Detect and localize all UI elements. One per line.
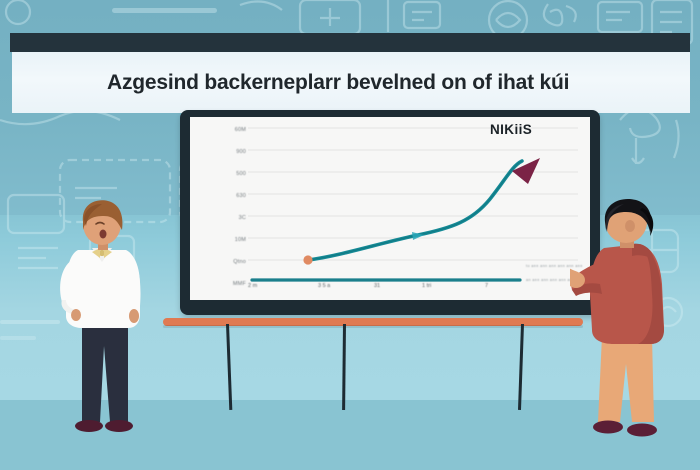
monitor-screen: 60M 900 500 630 3C 10M Qtno MMF (190, 117, 590, 300)
chart-x-axis-labels: 2 m 3 5 a 31 1 tri 7 (240, 283, 540, 297)
x-tick-2: 31 (374, 283, 380, 289)
person-presenter-left (58, 196, 176, 446)
chart-arrow-label: NIKiiS (490, 122, 532, 137)
x-tick-1: 3 5 a (318, 283, 330, 289)
chart-plot-area (190, 117, 590, 300)
x-tick-4: 7 (485, 283, 488, 289)
chart-end-arrowhead (512, 158, 540, 184)
title-banner: Azgesind backerneplarr bevelned on of ih… (12, 52, 690, 113)
banner-title-text: Azgesind backerneplarr bevelned on of ih… (107, 71, 569, 95)
x-tick-0: 2 m (248, 283, 257, 289)
x-tick-3: 1 tri (422, 283, 431, 289)
scene-root: Azgesind backerneplarr bevelned on of ih… (0, 0, 700, 470)
top-dark-bar (10, 33, 690, 52)
presentation-monitor: 60M 900 500 630 3C 10M Qtno MMF (180, 110, 600, 315)
person-presenter-right (570, 198, 692, 446)
chart-start-point (303, 255, 312, 264)
